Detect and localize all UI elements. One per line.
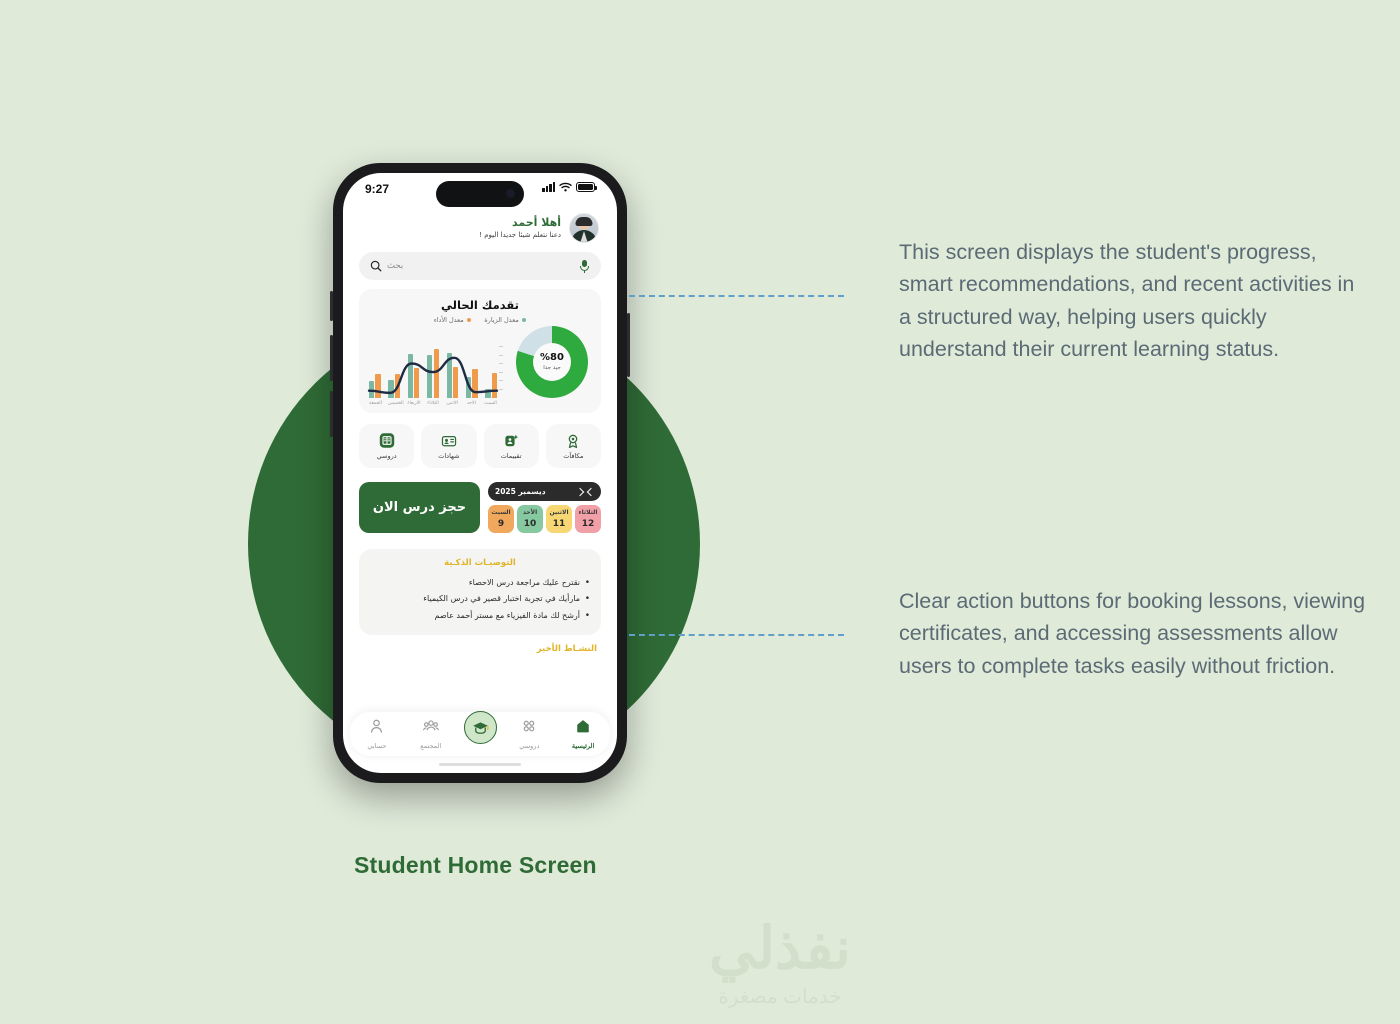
- chart-y-axis: [499, 346, 507, 390]
- avatar-hair: [576, 217, 593, 226]
- quick-action-assessment-badge[interactable]: تقييمات: [484, 424, 539, 468]
- calendar-day-number: 12: [575, 519, 601, 529]
- chart-row: %80 جيد جدا: [369, 326, 591, 406]
- assessment-badge-icon: [503, 433, 519, 449]
- status-indicators: [542, 182, 595, 192]
- chart-trend-line: [369, 342, 497, 414]
- calendar-day-name: الأحد: [517, 509, 543, 516]
- calendar-day-number: 9: [488, 519, 514, 529]
- calendar-month-label: ديسمبر 2025: [495, 487, 546, 496]
- legend-label-visit-rate: معدل الزيارة: [484, 316, 519, 324]
- phone-screen: 9:27: [343, 173, 617, 773]
- home-indicator: [439, 763, 521, 766]
- chevron-right-icon[interactable]: [576, 487, 584, 495]
- quick-action-label: تقييمات: [501, 452, 522, 460]
- donut-chart-wrap: %80 جيد جدا: [513, 326, 591, 406]
- search-icon: [370, 260, 382, 272]
- certificate-card-icon: [441, 433, 457, 449]
- recommendations-list: نقترح عليك مراجعة درس الاحصاءمارأيك في ت…: [370, 575, 590, 624]
- bar-chart: الجمعةالخميسالاربعاءالثلاثاءالاثنينالاحد…: [369, 342, 507, 406]
- tab-label: المجتمع: [420, 742, 441, 750]
- phone-mockup: 9:27: [333, 163, 627, 783]
- greeting-subtitle: دعنا نتعلم شيئا جديدا اليوم !: [479, 230, 561, 241]
- bottom-tab-bar: الرئيسيةدروسيالمجتمعحسابي: [350, 712, 610, 756]
- app-content: أهلا أحمد دعنا نتعلم شيئا جديدا اليوم ! …: [343, 207, 617, 654]
- quick-action-certificate-card[interactable]: شهادات: [421, 424, 476, 468]
- watermark: نفذلي خدمات مصغرة: [620, 920, 940, 1009]
- microphone-icon[interactable]: [579, 260, 590, 273]
- person-icon: [369, 718, 384, 739]
- calendar-arrows: [577, 489, 594, 495]
- battery-icon: [576, 182, 595, 192]
- front-camera-icon: [506, 189, 515, 198]
- calendar-widget: ديسمبر 2025 الثلاثاء12الاثنين11الأحد10ال…: [488, 482, 601, 533]
- book-lesson-button[interactable]: حجز درس الان: [359, 482, 480, 533]
- chart-plot-area: [369, 342, 497, 398]
- volume-down-button: [330, 391, 333, 437]
- connector-line-top: [629, 295, 844, 297]
- page-title: Student Home Screen: [354, 852, 597, 879]
- donut-chart: %80 جيد جدا: [516, 326, 588, 398]
- watermark-main-text: نفذلي: [620, 920, 940, 978]
- quick-action-label: شهادات: [438, 452, 459, 460]
- legend-dot-performance-rate: [467, 318, 471, 322]
- quick-action-lessons-board[interactable]: دروسي: [359, 424, 414, 468]
- volume-up-button: [330, 335, 333, 381]
- tab-label: الرئيسية: [572, 742, 594, 750]
- calendar-header: ديسمبر 2025: [488, 482, 601, 501]
- search-placeholder: بحث: [387, 261, 403, 271]
- dynamic-island: [436, 181, 524, 207]
- calendar-day[interactable]: السبت9: [488, 505, 514, 533]
- recommendation-item[interactable]: مارأيك في تجربة اختبار قصير في درس الكيم…: [370, 591, 590, 607]
- tab-home[interactable]: الرئيسية: [562, 718, 604, 750]
- quick-action-medal[interactable]: مكافآت: [546, 424, 601, 468]
- calendar-day-name: الثلاثاء: [575, 509, 601, 516]
- calendar-days: الثلاثاء12الاثنين11الأحد10السبت9: [488, 505, 601, 533]
- quick-action-label: دروسي: [377, 452, 397, 460]
- quick-actions: مكافآتتقييماتشهاداتدروسي: [359, 424, 601, 468]
- progress-card-title: تقدمك الحالي: [369, 298, 591, 312]
- grid-dots-icon: [521, 718, 537, 739]
- lessons-board-icon: [379, 433, 395, 449]
- greeting-title: أهلا أحمد: [479, 216, 561, 230]
- calendar-day-name: الاثنين: [546, 509, 572, 516]
- medal-icon: [565, 433, 581, 449]
- connector-line-bottom: [629, 634, 844, 636]
- tab-community[interactable]: المجتمع: [410, 718, 452, 750]
- legend-item-visit-rate: معدل الزيارة: [484, 316, 526, 324]
- calendar-day-number: 11: [546, 519, 572, 529]
- home-icon: [575, 718, 591, 739]
- status-bar: 9:27: [343, 173, 617, 207]
- progress-card: تقدمك الحالي معدل الزيارة معدل الأداء: [359, 289, 601, 413]
- phone-frame: 9:27: [333, 163, 627, 783]
- smart-recommendations-card: التوصيـات الذكـية نقترح عليك مراجعة درس …: [359, 549, 601, 635]
- recommendation-item[interactable]: نقترح عليك مراجعة درس الاحصاء: [370, 575, 590, 591]
- watermark-sub-text: خدمات مصغرة: [620, 984, 940, 1009]
- community-icon: [422, 718, 440, 739]
- status-time: 9:27: [365, 182, 389, 196]
- wifi-icon: [559, 182, 572, 192]
- legend-dot-visit-rate: [522, 318, 526, 322]
- signal-bars-icon: [542, 182, 555, 192]
- donut-center: %80 جيد جدا: [533, 343, 571, 381]
- legend-item-performance-rate: معدل الأداء: [434, 316, 472, 324]
- donut-status-label: جيد جدا: [543, 365, 561, 371]
- avatar[interactable]: [569, 213, 599, 243]
- tab-person[interactable]: حسابي: [356, 718, 398, 750]
- calendar-day[interactable]: الأحد10: [517, 505, 543, 533]
- search-input[interactable]: بحث: [370, 260, 403, 272]
- calendar-day[interactable]: الاثنين11: [546, 505, 572, 533]
- chevron-left-icon[interactable]: [587, 487, 595, 495]
- calendar-day-number: 10: [517, 519, 543, 529]
- tab-label: دروسي: [519, 742, 539, 750]
- calendar-and-cta-row: ديسمبر 2025 الثلاثاء12الاثنين11الأحد10ال…: [359, 482, 601, 533]
- annotation-text-top: This screen displays the student's progr…: [899, 236, 1369, 365]
- greeting-text: أهلا أحمد دعنا نتعلم شيئا جديدا اليوم !: [479, 216, 561, 241]
- recommendations-title: التوصيـات الذكـية: [370, 558, 590, 568]
- chart-legend: معدل الزيارة معدل الأداء: [369, 316, 591, 324]
- quick-action-label: مكافآت: [563, 452, 583, 460]
- tab-label: حسابي: [367, 742, 386, 750]
- graduation-cap-fab-icon[interactable]: [464, 711, 497, 744]
- calendar-day[interactable]: الثلاثاء12: [575, 505, 601, 533]
- search-bar[interactable]: بحث: [359, 252, 601, 280]
- legend-label-performance-rate: معدل الأداء: [434, 316, 464, 324]
- recent-activity-title: النشـاط الأخير: [357, 644, 597, 654]
- calendar-day-name: السبت: [488, 509, 514, 516]
- greeting-row: أهلا أحمد دعنا نتعلم شيئا جديدا اليوم !: [357, 207, 603, 243]
- recommendation-item[interactable]: أرشح لك مادة الفيزياء مع مستر أحمد عاصم: [370, 608, 590, 624]
- donut-percent: %80: [540, 353, 564, 363]
- annotation-text-bottom: Clear action buttons for booking lessons…: [899, 585, 1369, 682]
- tab-grid-dots[interactable]: دروسي: [508, 718, 550, 750]
